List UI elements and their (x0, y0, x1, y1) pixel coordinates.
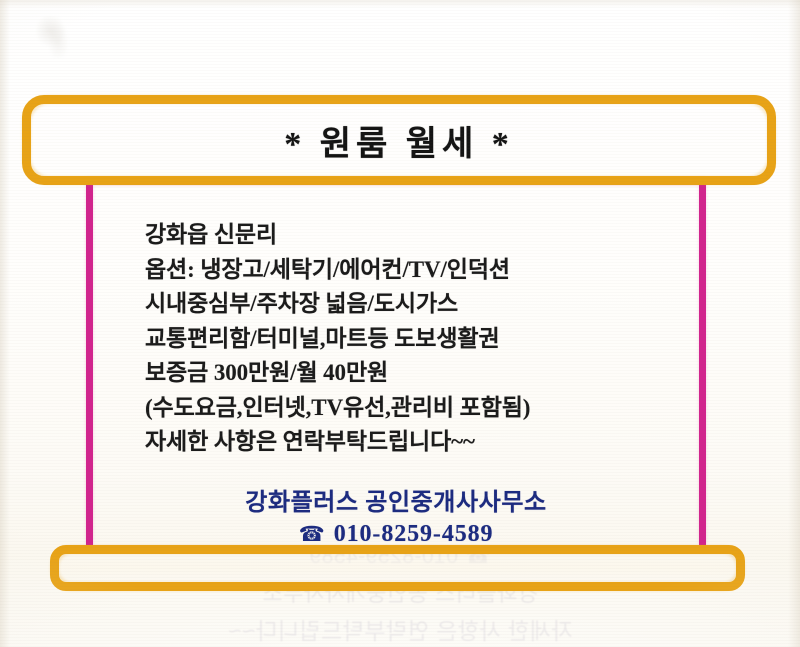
listing-details: 강화읍 신문리 옵션: 냉장고/세탁기/에어컨/TV/인덕션 시내중심부/주차장… (145, 218, 665, 460)
listing-line-included: (수도요금,인터넷,TV유선,관리비 포함됨) (145, 391, 665, 426)
ghost-detail-line: 자세한 사항은 연락부탁드립니다~~ (0, 612, 800, 646)
listing-line-location: 강화읍 신문리 (145, 218, 665, 253)
bottom-banner-frame (50, 545, 745, 591)
scan-edge-shadow-right (788, 0, 800, 647)
listing-line-area: 시내중심부/주차장 넓음/도시가스 (145, 287, 665, 322)
page-title: * 원룸 월세 * (22, 95, 776, 185)
phone-row[interactable]: ☎ 010-8259-4589 (88, 521, 704, 548)
flyer-page: ☎ 010-8259-4589 강화플러스 공인중개사사무소 자세한 사항은 연… (0, 0, 800, 647)
scan-edge-shadow-top (0, 0, 800, 8)
contact-block: 강화플러스 공인중개사사무소 ☎ 010-8259-4589 (88, 482, 704, 548)
phone-number[interactable]: 010-8259-4589 (334, 521, 494, 548)
listing-line-options: 옵션: 냉장고/세탁기/에어컨/TV/인덕션 (145, 253, 665, 288)
scan-smudge-artifact (36, 16, 72, 58)
agency-name: 강화플러스 공인중개사사무소 (88, 482, 704, 517)
listing-line-price: 보증금 300만원/월 40만원 (145, 356, 665, 391)
telephone-icon: ☎ (299, 524, 325, 545)
scan-edge-shadow-left (0, 0, 10, 647)
listing-line-transit: 교통편리함/터미널,마트등 도보생활권 (145, 322, 665, 357)
listing-line-closing: 자세한 사항은 연락부탁드립니다~~ (145, 425, 665, 460)
